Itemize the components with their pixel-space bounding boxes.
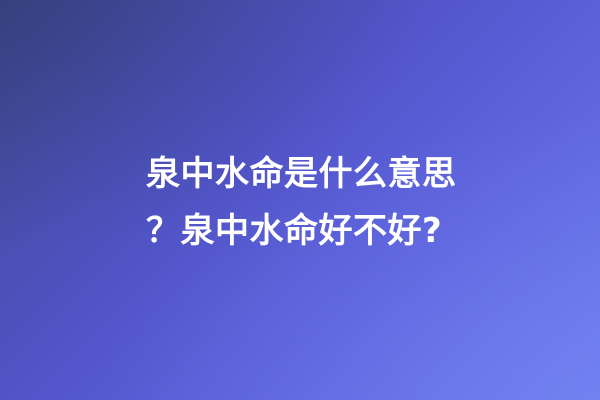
title-block: 泉中水命是什么意思 ？泉中水命好不好? xyxy=(146,146,476,260)
banner-canvas: 泉中水命是什么意思 ？泉中水命好不好? xyxy=(0,0,600,400)
title-line-1: 泉中水命是什么意思 xyxy=(146,146,476,203)
title-line-2: ？泉中水命好不好? xyxy=(146,203,476,260)
